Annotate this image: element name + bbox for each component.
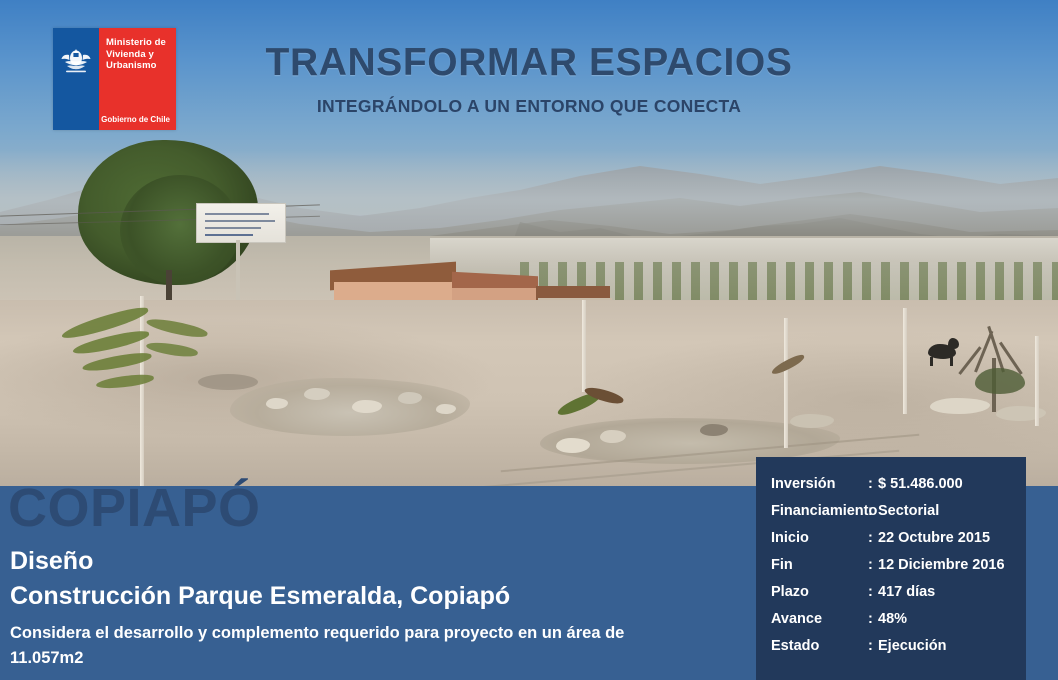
billboard-sign (196, 203, 286, 243)
ground-depression (198, 374, 258, 390)
info-row-financiamiento: Financiamiento : Sectorial (756, 498, 1026, 525)
project-description: Considera el desarrollo y complemento re… (10, 621, 748, 671)
info-label: Avance (771, 606, 822, 633)
info-value: 12 Diciembre 2016 (878, 552, 1005, 579)
billboard-post (236, 240, 240, 300)
info-row-estado: Estado : Ejecución (756, 633, 1026, 660)
info-separator: : (868, 525, 873, 552)
info-label: Financiamiento (771, 498, 877, 525)
support-stake (784, 318, 788, 448)
info-separator: : (868, 606, 873, 633)
info-value: $ 51.486.000 (878, 471, 963, 498)
info-row-fin: Fin : 12 Diciembre 2016 (756, 552, 1026, 579)
project-info-panel: Inversión : $ 51.486.000 Financiamiento … (756, 457, 1026, 680)
info-value: Sectorial (878, 498, 939, 525)
info-value: 22 Octubre 2015 (878, 525, 990, 552)
presentation-slide: Ministerio de Vivienda y Urbanismo Gobie… (0, 0, 1058, 680)
info-row-avance: Avance : 48% (756, 606, 1026, 633)
info-value: 417 días (878, 579, 935, 606)
dog-leg (950, 357, 953, 366)
shrub (975, 368, 1025, 394)
info-separator: : (868, 633, 873, 660)
info-separator: : (868, 552, 873, 579)
info-row-inicio: Inicio : 22 Octubre 2015 (756, 525, 1026, 552)
info-separator: : (868, 579, 873, 606)
dog-leg (930, 357, 933, 366)
info-row-plazo: Plazo : 417 días (756, 579, 1026, 606)
project-stage: Diseño (10, 547, 93, 575)
info-row-inversion: Inversión : $ 51.486.000 (756, 471, 1026, 498)
project-name: Construcción Parque Esmeralda, Copiapó (10, 582, 510, 610)
support-stake (903, 308, 907, 414)
project-description-line-1: Considera el desarrollo y complemento re… (10, 621, 748, 646)
dog-head (948, 338, 959, 349)
info-label: Inversión (771, 471, 835, 498)
slide-subheadline: INTEGRÁNDOLO A UN ENTORNO QUE CONECTA (0, 96, 1058, 117)
project-description-line-2: 11.057m2 (10, 646, 748, 671)
sapling-support-stake (140, 296, 144, 486)
info-separator: : (868, 471, 873, 498)
info-label: Plazo (771, 579, 809, 606)
support-stake (582, 300, 586, 392)
info-value: Ejecución (878, 633, 947, 660)
info-label: Estado (771, 633, 819, 660)
info-label: Inicio (771, 525, 809, 552)
info-value: 48% (878, 606, 907, 633)
slide-headline: TRANSFORMAR ESPACIOS (0, 41, 1058, 85)
city-title: COPIAPÓ (8, 477, 261, 539)
info-separator: : (868, 498, 873, 525)
info-label: Fin (771, 552, 793, 579)
